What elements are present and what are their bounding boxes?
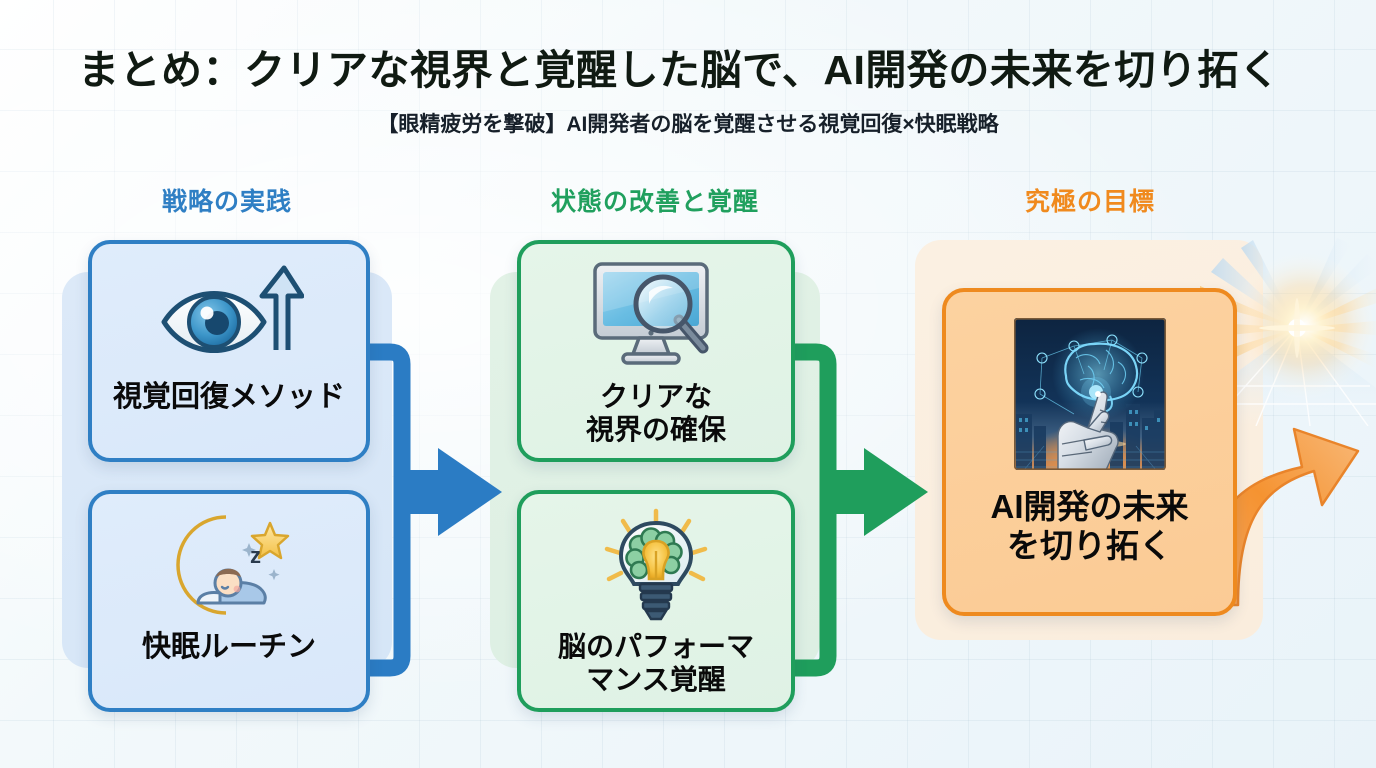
column-header-practice: 戦略の実践 bbox=[62, 182, 392, 218]
sleeping-moon-icon: z bbox=[92, 494, 366, 630]
card-vision-method[interactable]: 視覚回復メソッド bbox=[88, 240, 370, 462]
column-header-goal: 究極の目標 bbox=[915, 182, 1265, 218]
card-sleep-routine[interactable]: z 快眠ルーチン bbox=[88, 490, 370, 712]
card-clear-vision[interactable]: クリアな 視界の確保 bbox=[517, 240, 795, 462]
brain-lightbulb-icon bbox=[521, 494, 791, 630]
svg-text:z: z bbox=[250, 543, 261, 568]
card-label: 快眠ルーチン bbox=[142, 630, 316, 664]
card-label: クリアな 視界の確保 bbox=[586, 380, 726, 446]
monitor-magnifier-icon bbox=[521, 244, 791, 380]
connector-practice-to-improve bbox=[352, 330, 512, 690]
page-title: まとめ：クリアな視界と覚醒した脳で、AI開発の未来を切り拓く bbox=[78, 36, 1328, 96]
ai-brain-robot-hand-image bbox=[946, 292, 1233, 482]
column-header-improve: 状態の改善と覚醒 bbox=[490, 182, 820, 218]
connector-improve-to-goal bbox=[778, 330, 938, 690]
card-label: 脳のパフォーマ マンス覚醒 bbox=[558, 630, 754, 696]
card-brain-performance[interactable]: 脳のパフォーマ マンス覚醒 bbox=[517, 490, 795, 712]
card-label: AI開発の未来 を切り拓く bbox=[991, 488, 1189, 566]
page-subtitle: 【眼精疲労を撃破】AI開発者の脳を覚醒させる視覚回復×快眠戦略 bbox=[0, 108, 1376, 138]
eye-upward-arrow-icon bbox=[92, 244, 366, 380]
card-ai-future[interactable]: AI開発の未来 を切り拓く bbox=[942, 288, 1237, 616]
card-label: 視覚回復メソッド bbox=[113, 380, 345, 414]
